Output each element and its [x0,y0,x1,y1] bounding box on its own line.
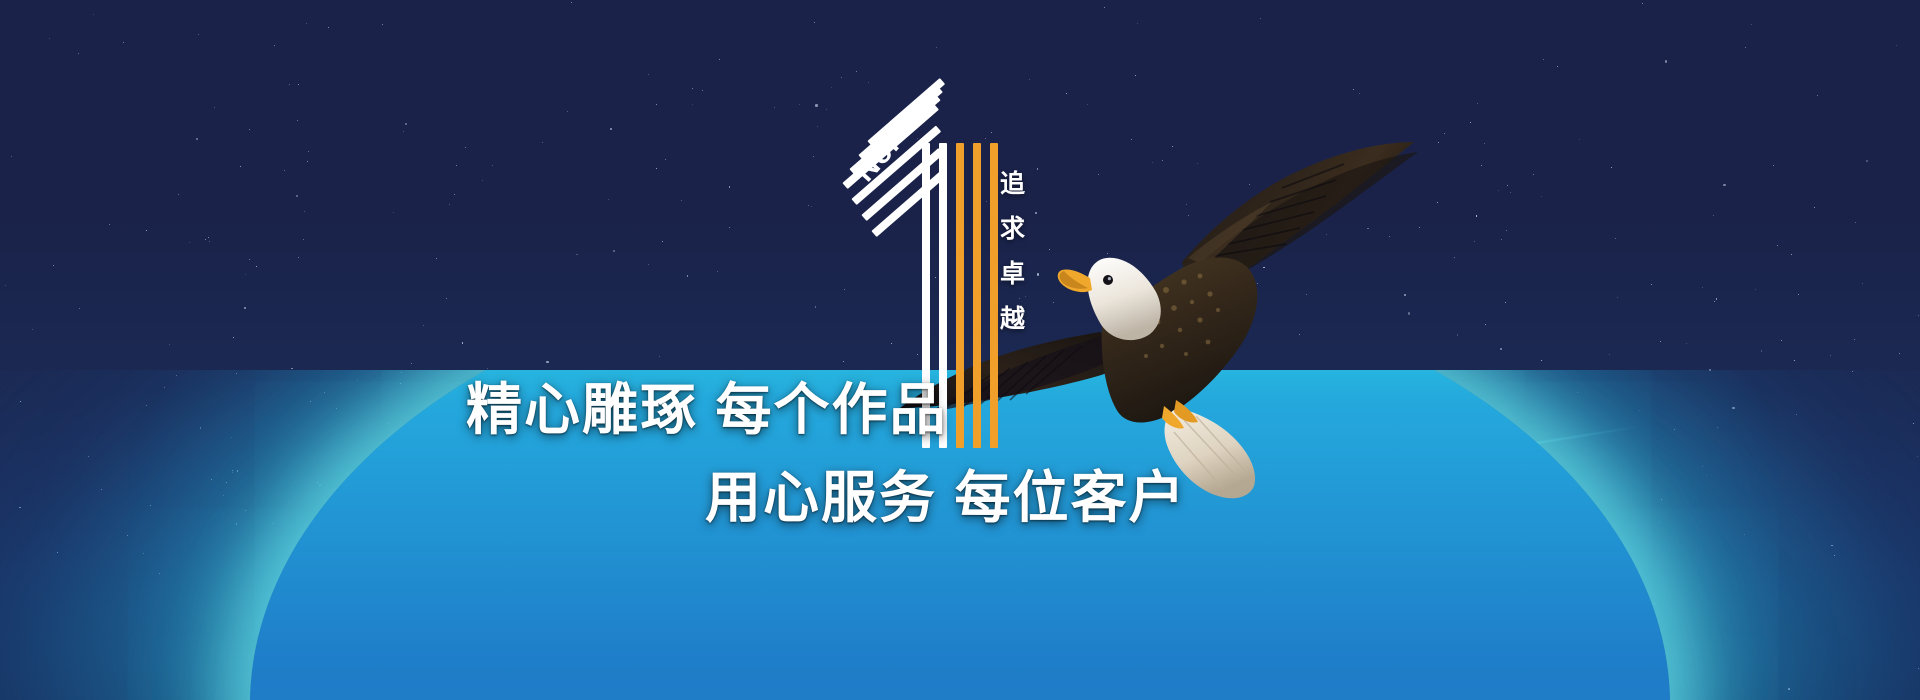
vertical-slogan-char: 越 [1000,307,1025,332]
logo-bar [990,143,998,448]
shooting-star-icon [1492,426,1640,451]
hero-banner: No. 追 求 卓 越 精心雕琢 每个作品 用心服务 每位客户 [0,0,1920,700]
vertical-slogan-char: 求 [1000,217,1025,242]
logo-bar [956,143,964,448]
vertical-slogan-char: 追 [1000,172,1025,197]
vertical-slogan-char: 卓 [1000,262,1025,287]
vertical-slogan: 追 求 卓 越 [1000,172,1025,332]
logo-bar [973,143,981,448]
headline-line-1: 精心雕琢 每个作品 [466,382,948,438]
headline-line-2: 用心服务 每位客户 [705,470,1187,526]
